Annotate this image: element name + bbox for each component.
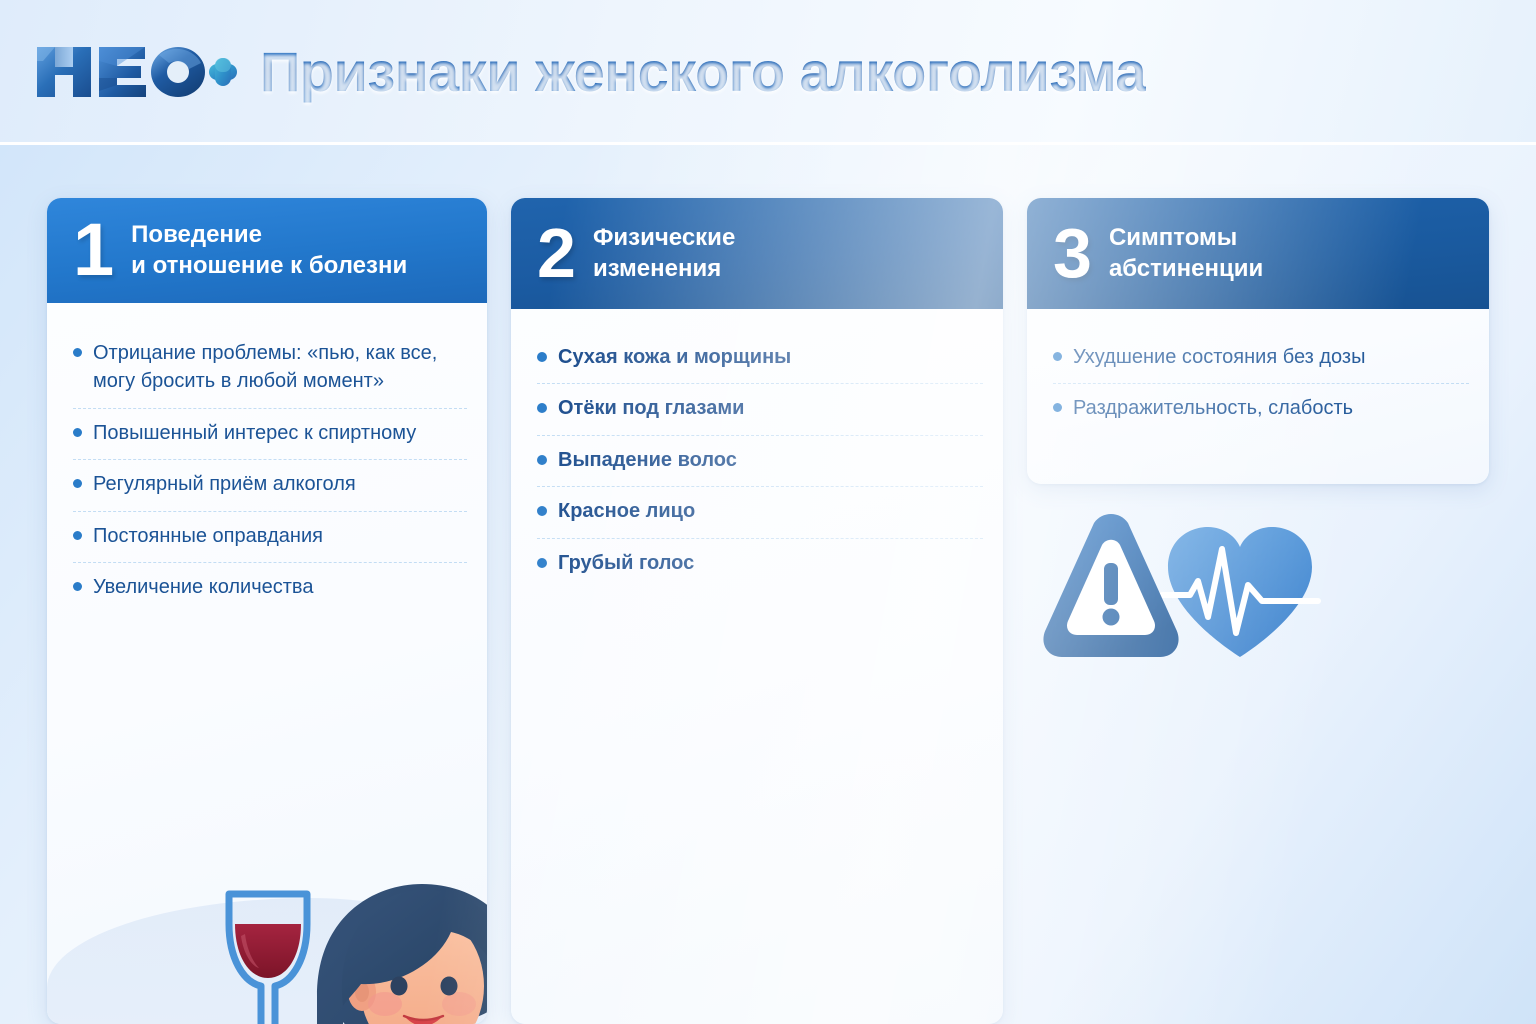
list-item: Сухая кожа и морщины: [537, 333, 983, 384]
list-item: Раздражительность, слабость: [1053, 384, 1469, 434]
list-item: Отёки под глазами: [537, 384, 983, 435]
bullet-icon: [537, 506, 547, 516]
list-item: Грубый голос: [537, 539, 983, 589]
card-physical: 2 Физические изменения Сухая кожа и морщ…: [511, 198, 1003, 1024]
infographic-canvas: Признаки женского алкоголизма 1 Поведени…: [0, 0, 1536, 1024]
card-3-title-line2: абстиненции: [1109, 254, 1263, 284]
list-item-text: Увеличение количества: [93, 573, 313, 601]
list-item-text: Регулярный приём алкоголя: [93, 470, 356, 498]
bullet-icon: [73, 348, 82, 357]
card-1-title: Поведение и отношение к болезни: [131, 220, 407, 280]
list-item: Регулярный приём алкоголя: [73, 460, 467, 511]
bullet-icon: [537, 455, 547, 465]
card-2-number: 2: [537, 225, 576, 282]
card-2-header: 2 Физические изменения: [511, 198, 1003, 309]
list-item: Выпадение волос: [537, 436, 983, 487]
list-item: Отрицание проблемы: «пью, как все, могу …: [73, 329, 467, 409]
bullet-icon: [537, 403, 547, 413]
bullet-icon: [73, 582, 82, 591]
card-2-title-line2: изменения: [593, 254, 735, 284]
card-2-title: Физические изменения: [593, 223, 735, 283]
list-item: Повышенный интерес к спиртному: [73, 409, 467, 460]
card-3-body: Ухудшение состояния без дозы Раздражител…: [1027, 309, 1489, 435]
list-item-text: Сухая кожа и морщины: [558, 343, 791, 371]
card-3-number: 3: [1053, 225, 1092, 282]
neo-plus-logo-icon: [33, 41, 238, 103]
bullet-icon: [1053, 352, 1062, 361]
card-1-title-line2: и отношение к болезни: [131, 251, 407, 281]
page-header: Признаки женского алкоголизма: [0, 0, 1536, 145]
card-3-title: Симптомы абстиненции: [1109, 223, 1263, 283]
bullet-icon: [73, 531, 82, 540]
card-withdrawal: 3 Симптомы абстиненции Ухудшение состоян…: [1027, 198, 1489, 484]
list-item-text: Постоянные оправдания: [93, 522, 323, 550]
list-item-text: Отрицание проблемы: «пью, как все, могу …: [93, 339, 467, 396]
page-title: Признаки женского алкоголизма: [260, 39, 1146, 104]
bullet-icon: [537, 558, 547, 568]
list-item: Постоянные оправдания: [73, 512, 467, 563]
card-behavior: 1 Поведение и отношение к болезни Отрица…: [47, 198, 487, 1024]
list-item-text: Отёки под глазами: [558, 394, 744, 422]
card-1-title-line1: Поведение: [131, 221, 262, 248]
background-arc: [47, 898, 487, 1024]
list-item-text: Повышенный интерес к спиртному: [93, 419, 416, 447]
card-3-list: Ухудшение состояния без дозы Раздражител…: [1053, 333, 1469, 435]
list-item: Увеличение количества: [73, 563, 467, 613]
card-1-list: Отрицание проблемы: «пью, как все, могу …: [73, 329, 467, 613]
card-2-title-line1: Физические: [593, 224, 735, 251]
list-item-text: Грубый голос: [558, 549, 694, 577]
list-item-text: Раздражительность, слабость: [1073, 394, 1353, 422]
card-3-title-line1: Симптомы: [1109, 224, 1237, 251]
card-1-body: Отрицание проблемы: «пью, как все, могу …: [47, 303, 487, 613]
warning-triangle-icon: [1043, 514, 1178, 657]
list-item-text: Выпадение волос: [558, 446, 737, 474]
heartbeat-icon: [1162, 527, 1318, 657]
bullet-icon: [537, 352, 547, 362]
neo-plus-logo: [33, 41, 238, 103]
warning-triangle-and-heartbeat-icon: [1040, 505, 1330, 685]
list-item: Ухудшение состояния без дозы: [1053, 333, 1469, 384]
card-2-list: Сухая кожа и морщины Отёки под глазами В…: [537, 333, 983, 589]
list-item-text: Красное лицо: [558, 497, 695, 525]
card-1-header: 1 Поведение и отношение к болезни: [47, 198, 487, 303]
list-item: Красное лицо: [537, 487, 983, 538]
card-3-header: 3 Симптомы абстиненции: [1027, 198, 1489, 309]
bullet-icon: [1053, 403, 1062, 412]
bullet-icon: [73, 428, 82, 437]
card-1-number: 1: [73, 220, 114, 281]
card-2-body: Сухая кожа и морщины Отёки под глазами В…: [511, 309, 1003, 589]
bullet-icon: [73, 479, 82, 488]
list-item-text: Ухудшение состояния без дозы: [1073, 343, 1365, 371]
